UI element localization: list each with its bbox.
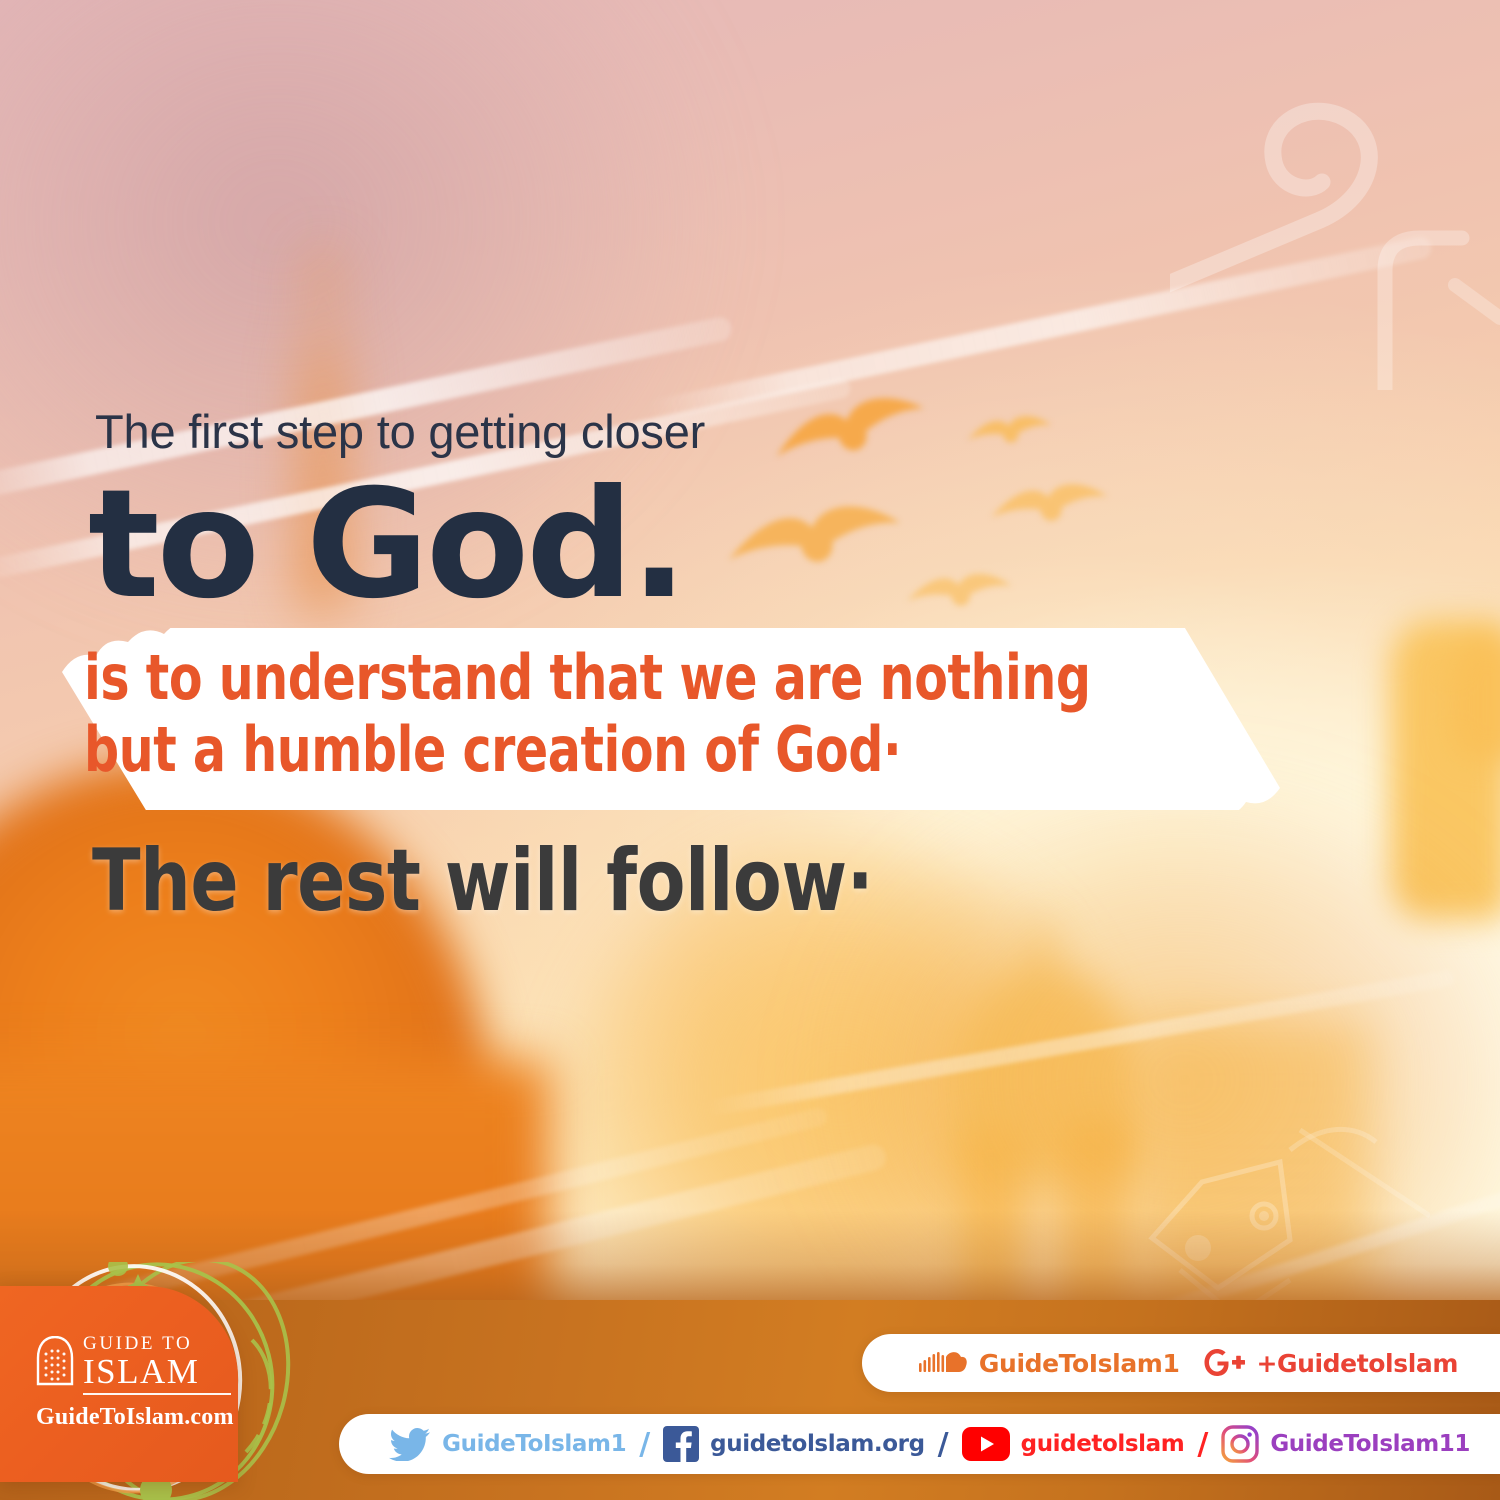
instagram-handle: GuideToIslam11	[1270, 1431, 1470, 1457]
decorative-hook-lines-top-right	[1170, 70, 1500, 390]
instagram-icon	[1221, 1425, 1259, 1463]
facebook-handle: guidetolslam.org	[710, 1431, 924, 1457]
youtube-icon	[962, 1427, 1010, 1461]
headline-text: to God	[88, 458, 631, 632]
logo-row: GUIDE TO ISLAM	[36, 1334, 226, 1389]
separator-1: /	[639, 1427, 650, 1462]
logo-guide-to: GUIDE TO	[83, 1334, 199, 1353]
social-item-youtube[interactable]: guidetolslam /	[962, 1427, 1211, 1462]
bird-icon-5	[900, 558, 1020, 620]
soundcloud-handle: GuideToIslam1	[979, 1349, 1180, 1378]
logo-islam: ISLAM	[83, 1354, 199, 1389]
social-pill-top: GuideToIslam1 +Guidetolslam	[862, 1334, 1500, 1392]
social-pill-bottom: GuideToIslam1 / guidetolslam.org / guide…	[339, 1414, 1500, 1474]
mosque-arch-icon	[36, 1336, 74, 1388]
logo-domain: GuideToIslam.com	[36, 1404, 226, 1431]
social-item-googleplus[interactable]: +Guidetolslam	[1201, 1346, 1458, 1380]
googleplus-handle: +Guidetolslam	[1256, 1349, 1458, 1378]
logo-wordmark: GUIDE TO ISLAM	[83, 1334, 199, 1389]
youtube-handle: guidetolslam	[1021, 1431, 1185, 1457]
highlight-panel: is to understand that we are nothing but…	[62, 628, 1280, 810]
highlight-line-2: but a humble creation of God·	[84, 714, 1122, 786]
social-item-soundcloud[interactable]: GuideToIslam1	[918, 1348, 1180, 1378]
twitter-handle: GuideToIslam1	[442, 1431, 626, 1457]
soundcloud-icon	[918, 1348, 968, 1378]
closing-line: The rest will follow·	[92, 838, 873, 924]
highlight-copy: is to understand that we are nothing but…	[84, 642, 1122, 786]
social-item-instagram[interactable]: GuideToIslam11	[1221, 1425, 1470, 1463]
bird-icon-3	[961, 402, 1059, 455]
bird-icon-2	[713, 476, 917, 592]
logo-content: GUIDE TO ISLAM GuideToIslam.com	[36, 1334, 226, 1431]
googleplus-icon	[1201, 1346, 1245, 1380]
highlight-line-1: is to understand that we are nothing	[84, 642, 1122, 714]
social-item-twitter[interactable]: GuideToIslam1 /	[389, 1427, 652, 1462]
logo-divider	[83, 1393, 231, 1395]
kicker-line: The first step to getting closer	[95, 404, 705, 459]
facebook-icon	[663, 1426, 699, 1462]
bird-icon-4	[982, 465, 1118, 539]
headline-to-god: to God.	[88, 470, 687, 620]
separator-3: /	[1197, 1427, 1208, 1462]
headline-period: .	[631, 458, 687, 632]
twitter-icon	[389, 1427, 431, 1461]
poster-canvas: The first step to getting closer to God.…	[0, 0, 1500, 1500]
separator-2: /	[938, 1427, 949, 1462]
social-item-facebook[interactable]: guidetolslam.org /	[663, 1426, 950, 1462]
band-fade	[0, 1210, 1500, 1300]
logo-badge[interactable]: GUIDE TO ISLAM GuideToIslam.com	[0, 1286, 238, 1482]
